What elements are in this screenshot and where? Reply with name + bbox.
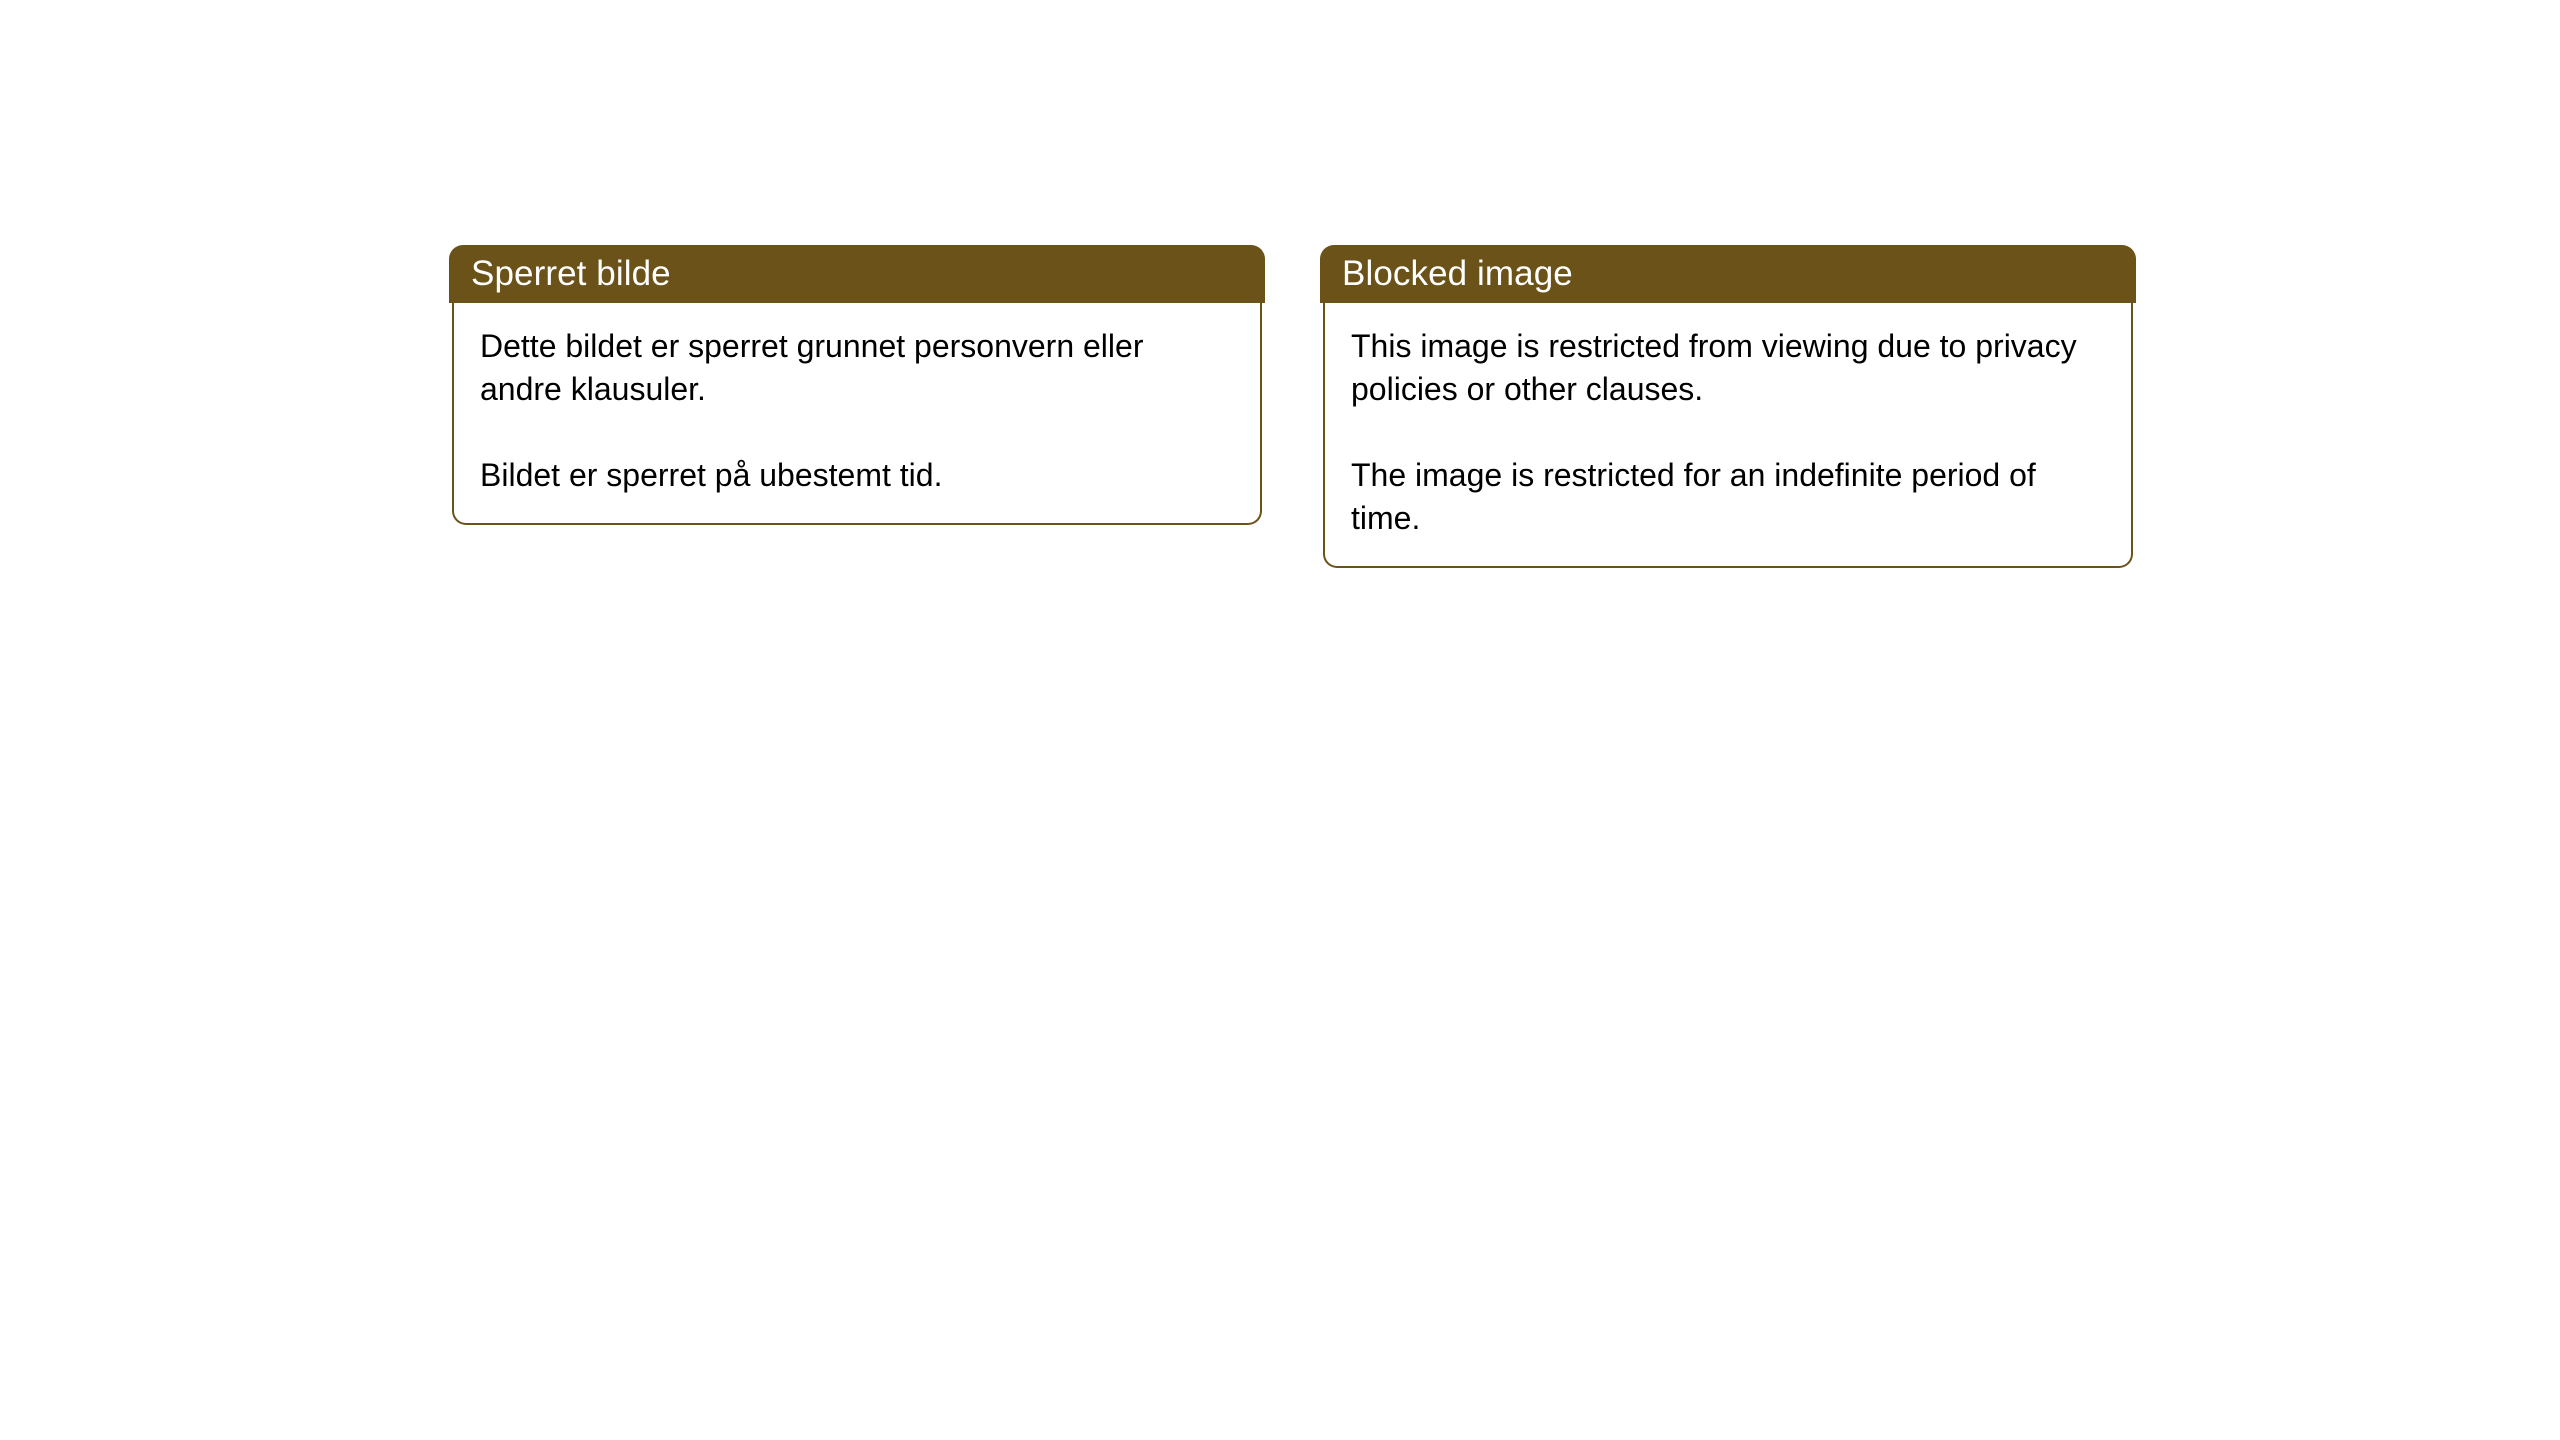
blocked-image-notice-english: Blocked image This image is restricted f… [1320, 245, 2136, 568]
blocked-image-notice-norwegian: Sperret bilde Dette bildet er sperret gr… [449, 245, 1265, 525]
notice-title-english: Blocked image [1342, 255, 1573, 293]
notice-paragraph-duration-english: The image is restricted for an indefinit… [1351, 454, 2105, 540]
notice-header-norwegian: Sperret bilde [449, 245, 1265, 303]
notice-title-norwegian: Sperret bilde [471, 255, 671, 293]
notice-paragraph-reason-norwegian: Dette bildet er sperret grunnet personve… [480, 325, 1234, 411]
page-canvas: Sperret bilde Dette bildet er sperret gr… [0, 0, 2560, 1440]
notice-paragraph-duration-norwegian: Bildet er sperret på ubestemt tid. [480, 454, 1234, 497]
notice-header-english: Blocked image [1320, 245, 2136, 303]
notice-body-english: This image is restricted from viewing du… [1323, 303, 2133, 568]
notice-paragraph-reason-english: This image is restricted from viewing du… [1351, 325, 2105, 411]
notice-body-norwegian: Dette bildet er sperret grunnet personve… [452, 303, 1262, 525]
